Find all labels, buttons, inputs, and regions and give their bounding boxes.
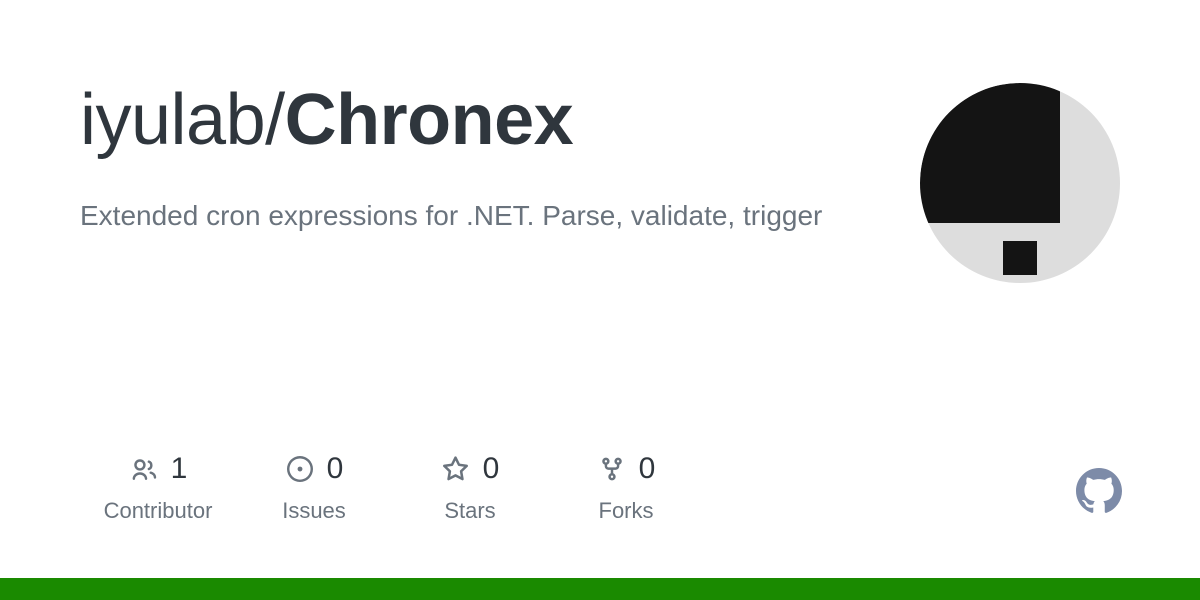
stat-forks-label: Forks <box>599 500 654 522</box>
stat-contributors-value: 1 <box>171 454 188 484</box>
repo-forked-icon <box>597 454 627 484</box>
stat-forks-value: 0 <box>639 454 656 484</box>
avatar-shape <box>920 83 1060 223</box>
stat-issues-label: Issues <box>282 500 346 522</box>
page-title: iyulab/Chronex <box>80 84 880 156</box>
stat-contributors-top: 1 <box>129 452 188 486</box>
stat-stars-top: 0 <box>441 452 500 486</box>
stat-forks: 0 Forks <box>548 452 704 522</box>
stat-stars-value: 0 <box>483 454 500 484</box>
stat-contributors: 1 Contributor <box>80 452 236 522</box>
github-logo-icon <box>1076 468 1122 514</box>
stat-issues: 0 Issues <box>236 452 392 522</box>
repository-name: Chronex <box>285 80 574 160</box>
repository-header: iyulab/Chronex Extended cron expressions… <box>80 84 880 239</box>
repository-owner: iyulab/ <box>80 80 285 160</box>
accent-bar <box>0 578 1200 600</box>
stat-issues-value: 0 <box>327 454 344 484</box>
stat-stars-label: Stars <box>444 500 495 522</box>
issue-opened-icon <box>285 454 315 484</box>
stat-stars: 0 Stars <box>392 452 548 522</box>
stat-issues-top: 0 <box>285 452 344 486</box>
stat-forks-top: 0 <box>597 452 656 486</box>
repository-social-preview-card: iyulab/Chronex Extended cron expressions… <box>0 0 1200 600</box>
stat-contributors-label: Contributor <box>104 500 213 522</box>
people-icon <box>129 454 159 484</box>
star-icon <box>441 454 471 484</box>
repository-description: Extended cron expressions for .NET. Pars… <box>80 192 870 239</box>
avatar <box>920 83 1120 283</box>
avatar-dot <box>1003 241 1037 275</box>
repository-stats: 1 Contributor 0 Issues <box>80 452 704 522</box>
